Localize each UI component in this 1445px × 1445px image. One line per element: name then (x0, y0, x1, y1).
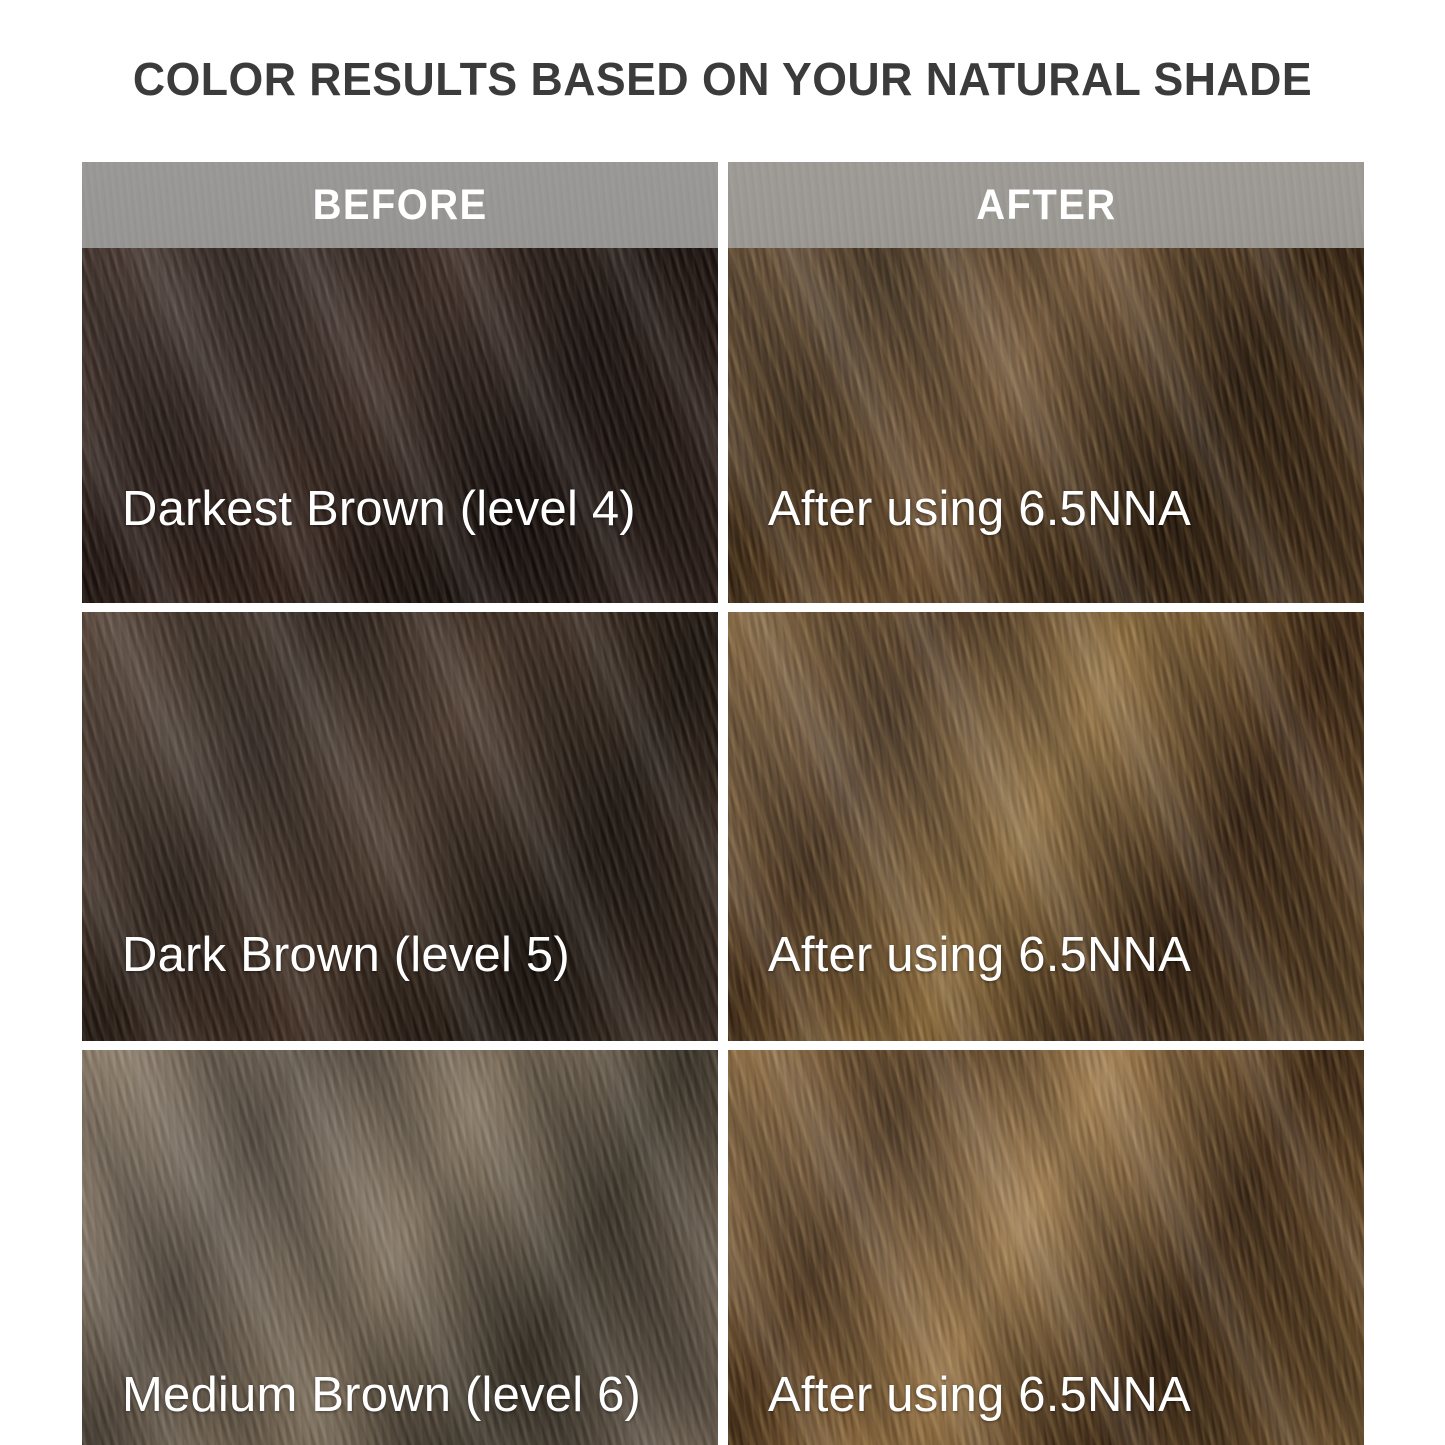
swatch-cell-before-level-6: Medium Brown (level 6) (82, 1050, 718, 1445)
column-divider (718, 162, 728, 603)
column-divider (718, 1050, 728, 1445)
swatch-caption-after-level-4: After using 6.5NNA (768, 481, 1191, 537)
swatch-caption-before-level-4: Darkest Brown (level 4) (122, 481, 636, 537)
page-title: COLOR RESULTS BASED ON YOUR NATURAL SHAD… (22, 52, 1424, 106)
row-divider (728, 603, 1364, 612)
row-divider (82, 603, 718, 612)
swatch-caption-after-level-6: After using 6.5NNA (768, 1367, 1191, 1423)
swatch-cell-after-level-4: AFTER After using 6.5NNA (728, 162, 1364, 603)
before-after-comparison-grid: BEFORE Darkest Brown (level 4) AFTER Aft… (82, 162, 1364, 1445)
column-header-after: AFTER (728, 162, 1364, 248)
column-divider (718, 612, 728, 1041)
swatch-caption-after-level-5: After using 6.5NNA (768, 927, 1191, 983)
product-color-results-page: COLOR RESULTS BASED ON YOUR NATURAL SHAD… (0, 0, 1445, 1445)
swatch-cell-before-level-4: BEFORE Darkest Brown (level 4) (82, 162, 718, 603)
row-divider (82, 1041, 718, 1050)
swatch-cell-after-level-5: After using 6.5NNA (728, 612, 1364, 1041)
column-header-after-label: AFTER (976, 181, 1116, 230)
swatch-caption-before-level-6: Medium Brown (level 6) (122, 1367, 641, 1423)
column-header-before: BEFORE (82, 162, 718, 248)
swatch-cell-before-level-5: Dark Brown (level 5) (82, 612, 718, 1041)
row-divider (728, 1041, 1364, 1050)
column-header-before-label: BEFORE (312, 181, 487, 230)
swatch-caption-before-level-5: Dark Brown (level 5) (122, 927, 570, 983)
row-divider (718, 603, 728, 612)
row-divider (718, 1041, 728, 1050)
swatch-cell-after-level-6: After using 6.5NNA (728, 1050, 1364, 1445)
